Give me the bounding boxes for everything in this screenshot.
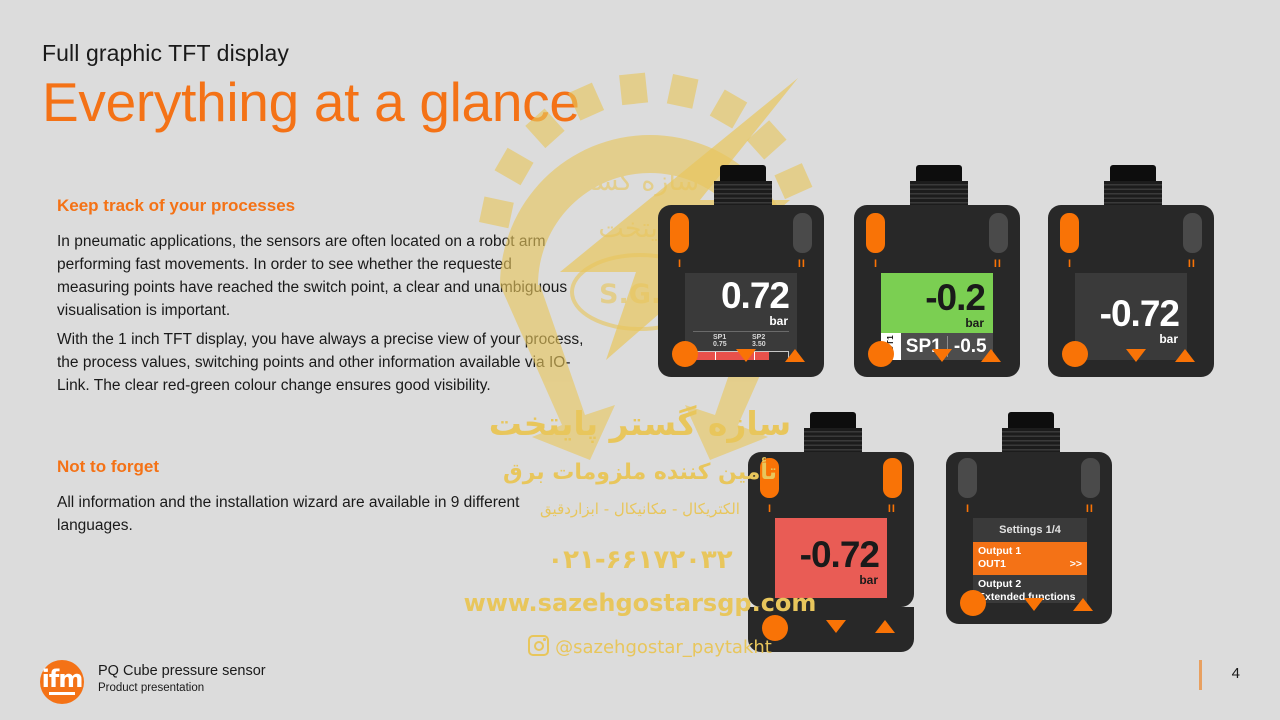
led-mark-2: II [1086,504,1094,515]
bargraph-tick-sp1 [715,352,716,360]
down-button[interactable] [932,349,952,362]
screen-process-value: -0.2 [925,279,985,316]
slide-footer: ifm PQ Cube pressure sensor Product pres… [0,648,1280,720]
led-mark-2: II [1188,259,1196,270]
down-button[interactable] [736,349,756,362]
led-indicator-2 [989,213,1008,253]
left-arrow-icon [500,285,615,460]
device-settings-menu: I II Settings 1/4 Output 1 OUT1 >> Outpu… [943,412,1115,612]
led-indicator-2 [793,213,812,253]
screen-divider [693,331,789,332]
connector-ribs [1002,428,1060,454]
enter-button[interactable] [672,341,698,367]
screen-unit: bar [1159,333,1178,345]
up-button[interactable] [785,349,805,362]
led-mark-2: II [994,259,1002,270]
menu-item-line2: OUT1 [978,558,1006,571]
led-mark-2: II [798,259,806,270]
enter-button[interactable] [960,590,986,616]
ifm-logo-bar [49,692,75,695]
led-indicator-2 [1081,458,1100,498]
connector-cap [810,412,856,428]
connector-ribs [714,181,772,207]
bargraph-fill [694,352,769,360]
page-number: 4 [1232,665,1240,682]
led-indicator-1 [866,213,885,253]
connector-cap [916,165,962,181]
led-mark-1: I [1068,259,1072,270]
device-switch-alarm-red: I II -0.72 bar [745,412,917,612]
screen-process-value: 0.72 [721,277,789,314]
device-screen[interactable]: 0.72 bar SP1 0.75 SP2 3.50 [685,273,797,360]
up-button[interactable] [981,349,1001,362]
menu-item-output-1[interactable]: Output 1 OUT1 >> [973,542,1087,575]
menu-item-line2-row: OUT1 >> [978,558,1082,571]
menu-title: Settings 1/4 [973,524,1087,536]
led-indicator-1 [670,213,689,253]
screen-unit: bar [965,317,984,329]
device-switch-active-green: I II -0.2 bar OUT1 SP1 -0.5 [851,165,1023,380]
connector-cap [1008,412,1054,428]
device-body: I II Settings 1/4 Output 1 OUT1 >> Outpu… [946,452,1112,624]
ifm-logo-icon: ifm [40,660,84,704]
led-mark-1: I [678,259,682,270]
footer-title: PQ Cube pressure sensor [98,663,266,679]
connector-cap [720,165,766,181]
device-body: I II -0.2 bar OUT1 SP1 -0.5 [854,205,1020,377]
screen-process-value: -0.72 [800,536,879,573]
screen-unit: bar [769,315,788,327]
device-process-value-dark: I II 0.72 bar SP1 0.75 SP2 3.50 [655,165,827,380]
led-indicator-1 [760,458,779,498]
led-indicator-1 [958,458,977,498]
ifm-logo-text: ifm [40,667,84,691]
connector-ribs [804,428,862,454]
chevron-right-icon: >> [1070,558,1082,571]
setpoint-1-value: 0.75 [713,341,727,349]
led-mark-2: II [888,504,896,515]
down-button[interactable] [1126,349,1146,362]
led-mark-1: I [768,504,772,515]
device-screen[interactable]: -0.72 bar [775,518,887,598]
enter-button[interactable] [868,341,894,367]
connector-ribs [1104,181,1162,207]
device-body: I II -0.72 bar [1048,205,1214,377]
device-body: I II -0.72 bar [748,452,914,607]
slide-canvas: Full graphic TFT display Everything at a… [0,0,1280,720]
page-number-rule [1199,660,1202,690]
connector-cap [1110,165,1156,181]
footer-subtitle: Product presentation [98,682,204,694]
screen-unit: bar [859,574,878,586]
enter-button[interactable] [762,615,788,641]
connector-ribs [910,181,968,207]
menu-item-line1: Output 2 [978,578,1082,591]
led-mark-1: I [966,504,970,515]
device-screen[interactable]: -0.2 bar OUT1 SP1 -0.5 [881,273,993,360]
device-process-value-negative: I II -0.72 bar [1045,165,1217,380]
led-indicator-2 [883,458,902,498]
led-mark-1: I [874,259,878,270]
led-indicator-2 [1183,213,1202,253]
up-button[interactable] [875,620,895,633]
menu-item-line1: Output 1 [978,545,1082,558]
device-screen[interactable]: -0.72 bar [1075,273,1187,360]
up-button[interactable] [1175,349,1195,362]
device-screen[interactable]: Settings 1/4 Output 1 OUT1 >> Output 2 E… [973,518,1087,603]
enter-button[interactable] [1062,341,1088,367]
down-button[interactable] [826,620,846,633]
screen-value-panel: -0.2 bar [881,273,993,333]
device-body: I II 0.72 bar SP1 0.75 SP2 3.50 [658,205,824,377]
screen-process-value: -0.72 [1100,295,1179,332]
setpoint-2-value: 3.50 [752,341,766,349]
led-indicator-1 [1060,213,1079,253]
down-button[interactable] [1024,598,1044,611]
up-button[interactable] [1073,598,1093,611]
